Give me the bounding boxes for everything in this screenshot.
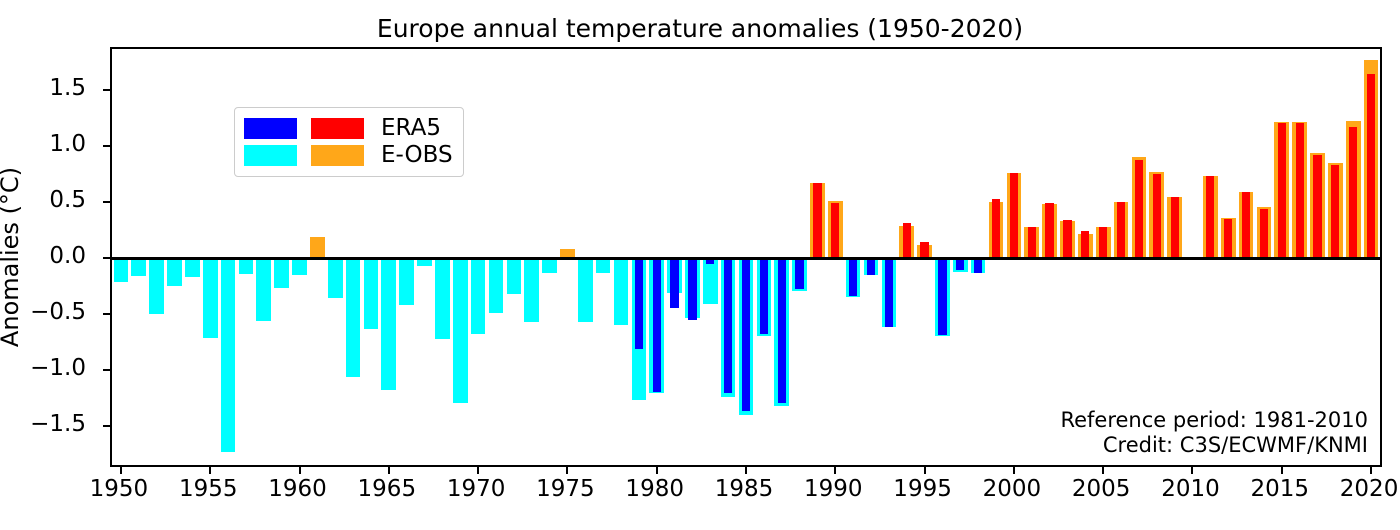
legend-label-eobs: E-OBS — [381, 144, 453, 167]
y-tick-1 — [103, 145, 112, 147]
bar-era5-1990 — [831, 203, 839, 258]
bar-era5-2019 — [1349, 127, 1357, 258]
bar-era5-2015 — [1278, 123, 1286, 258]
bar-era5-2000 — [1010, 173, 1018, 258]
x-tick-1970 — [477, 465, 479, 474]
bar-era5-1988 — [795, 258, 803, 289]
bar-era5-2016 — [1296, 123, 1304, 258]
chart-annotation: Reference period: 1981-2010 Credit: C3S/… — [1060, 408, 1368, 458]
bar-e-obs-1983 — [703, 258, 718, 304]
y-tick-label-0: 1.5 — [49, 75, 86, 101]
x-tick-1995 — [924, 465, 926, 474]
bar-era5-1989 — [813, 183, 821, 258]
bar-era5-2020 — [1367, 74, 1375, 259]
bar-e-obs-1969 — [453, 258, 468, 403]
zero-reference-line — [112, 257, 1380, 260]
bar-e-obs-1963 — [346, 258, 361, 377]
bar-e-obs-1954 — [185, 258, 200, 277]
bar-e-obs-1964 — [364, 258, 379, 328]
x-tick-label-2015: 2015 — [1250, 476, 1309, 502]
bar-era5-1991 — [849, 258, 857, 296]
legend-swatch-eobs-negative — [244, 145, 297, 166]
bar-era5-1985 — [742, 258, 750, 411]
y-tick-neg1p5 — [103, 425, 112, 427]
legend-item-era5: ERA5 — [244, 115, 453, 142]
bar-e-obs-1962 — [328, 258, 343, 298]
y-tick-1p5 — [103, 89, 112, 91]
bar-e-obs-1968 — [435, 258, 450, 339]
x-tick-label-1980: 1980 — [625, 476, 684, 502]
bar-era5-1984 — [724, 258, 732, 393]
plot-area: ERA5 E-OBS Reference period: 1981-2010 C… — [110, 47, 1382, 467]
bar-era5-2004 — [1081, 231, 1089, 258]
bar-e-obs-1953 — [167, 258, 182, 286]
bar-e-obs-1972 — [507, 258, 522, 294]
x-tick-label-1970: 1970 — [447, 476, 506, 502]
legend-item-eobs: E-OBS — [244, 142, 453, 169]
x-tick-label-1975: 1975 — [536, 476, 595, 502]
bar-era5-2011 — [1206, 176, 1214, 258]
y-tick-label-2: 0.5 — [49, 187, 86, 213]
x-tick-label-1990: 1990 — [804, 476, 863, 502]
legend-label-era5: ERA5 — [381, 117, 441, 140]
chart-title: Europe annual temperature anomalies (195… — [0, 14, 1400, 44]
annotation-line-credit: Credit: C3S/ECWMF/KNMI — [1060, 433, 1368, 458]
y-tick-0p5 — [103, 201, 112, 203]
y-axis-tick-labels: 1.51.00.50.0−0.5−1.0−1.5 — [0, 47, 100, 467]
bar-e-obs-1960 — [292, 258, 307, 275]
y-tick-neg0p5 — [103, 313, 112, 315]
bar-era5-2001 — [1028, 227, 1036, 258]
bar-e-obs-1957 — [239, 258, 254, 274]
bar-e-obs-1959 — [274, 258, 289, 288]
bar-era5-1997 — [956, 258, 964, 270]
bar-e-obs-1974 — [542, 258, 557, 273]
x-tick-label-2000: 2000 — [983, 476, 1042, 502]
chart-figure: Europe annual temperature anomalies (195… — [0, 0, 1400, 530]
bar-era5-1992 — [867, 258, 875, 275]
bar-era5-1994 — [903, 223, 911, 258]
bar-era5-2018 — [1331, 165, 1339, 258]
y-tick-neg1 — [103, 369, 112, 371]
x-tick-1980 — [656, 465, 658, 474]
bar-e-obs-1977 — [596, 258, 611, 273]
x-tick-2010 — [1191, 465, 1193, 474]
bar-era5-1979 — [635, 258, 643, 349]
bar-era5-1987 — [778, 258, 786, 403]
x-tick-1955 — [209, 465, 211, 474]
bar-e-obs-1973 — [524, 258, 539, 322]
x-tick-label-1960: 1960 — [268, 476, 327, 502]
x-tick-label-2020: 2020 — [1340, 476, 1399, 502]
annotation-line-reference: Reference period: 1981-2010 — [1060, 408, 1368, 433]
bar-era5-1982 — [688, 258, 696, 320]
bar-era5-2014 — [1260, 209, 1268, 258]
bar-era5-2007 — [1135, 160, 1143, 258]
bar-e-obs-1951 — [131, 258, 146, 276]
bar-era5-2013 — [1242, 192, 1250, 258]
bar-era5-1999 — [992, 199, 1000, 258]
chart-legend: ERA5 E-OBS — [234, 107, 464, 177]
bar-e-obs-1952 — [149, 258, 164, 314]
y-tick-label-6: −1.5 — [30, 411, 86, 437]
bar-era5-2012 — [1224, 219, 1232, 258]
bar-e-obs-1961 — [310, 237, 325, 258]
x-tick-1990 — [834, 465, 836, 474]
x-tick-label-1955: 1955 — [179, 476, 238, 502]
bar-era5-2017 — [1313, 155, 1321, 258]
bar-e-obs-1955 — [203, 258, 218, 337]
bar-era5-2008 — [1153, 174, 1161, 258]
x-tick-2020 — [1370, 465, 1372, 474]
bar-era5-2009 — [1171, 197, 1179, 259]
bar-era5-1986 — [760, 258, 768, 334]
y-tick-label-3: 0.0 — [49, 243, 86, 269]
x-tick-1950 — [120, 465, 122, 474]
bar-e-obs-1978 — [614, 258, 629, 325]
bar-e-obs-1965 — [381, 258, 396, 390]
x-tick-1960 — [299, 465, 301, 474]
bar-e-obs-1950 — [114, 258, 129, 281]
bar-era5-1996 — [938, 258, 946, 335]
bar-e-obs-1958 — [256, 258, 271, 321]
x-axis-tick-labels: 1950195519601965197019751980198519901995… — [110, 476, 1382, 516]
bar-era5-1981 — [670, 258, 678, 308]
y-tick-0 — [103, 257, 112, 259]
bar-e-obs-1956 — [221, 258, 236, 451]
x-tick-2000 — [1013, 465, 1015, 474]
x-tick-label-2010: 2010 — [1161, 476, 1220, 502]
bar-e-obs-1971 — [489, 258, 504, 313]
x-tick-label-1985: 1985 — [715, 476, 774, 502]
x-tick-label-1965: 1965 — [358, 476, 417, 502]
y-tick-label-4: −0.5 — [30, 299, 86, 325]
y-tick-label-1: 1.0 — [49, 131, 86, 157]
y-tick-label-5: −1.0 — [30, 355, 86, 381]
bar-era5-1998 — [974, 258, 982, 273]
x-tick-1975 — [566, 465, 568, 474]
x-tick-label-1950: 1950 — [90, 476, 149, 502]
x-tick-1985 — [745, 465, 747, 474]
bar-e-obs-1976 — [578, 258, 593, 322]
bar-era5-2002 — [1045, 203, 1053, 258]
bar-e-obs-1966 — [399, 258, 414, 305]
bar-era5-2006 — [1117, 202, 1125, 258]
bar-era5-1980 — [653, 258, 661, 392]
bar-era5-1993 — [885, 258, 893, 327]
bar-era5-2005 — [1099, 227, 1107, 258]
x-tick-label-1995: 1995 — [893, 476, 952, 502]
bar-e-obs-1970 — [471, 258, 486, 334]
x-tick-label-2005: 2005 — [1072, 476, 1131, 502]
legend-swatch-eobs-positive — [311, 145, 364, 166]
bar-era5-2003 — [1063, 220, 1071, 258]
x-tick-2015 — [1281, 465, 1283, 474]
legend-swatch-era5-positive — [311, 118, 364, 139]
legend-swatch-era5-negative — [244, 118, 297, 139]
x-tick-1965 — [388, 465, 390, 474]
x-tick-2005 — [1102, 465, 1104, 474]
